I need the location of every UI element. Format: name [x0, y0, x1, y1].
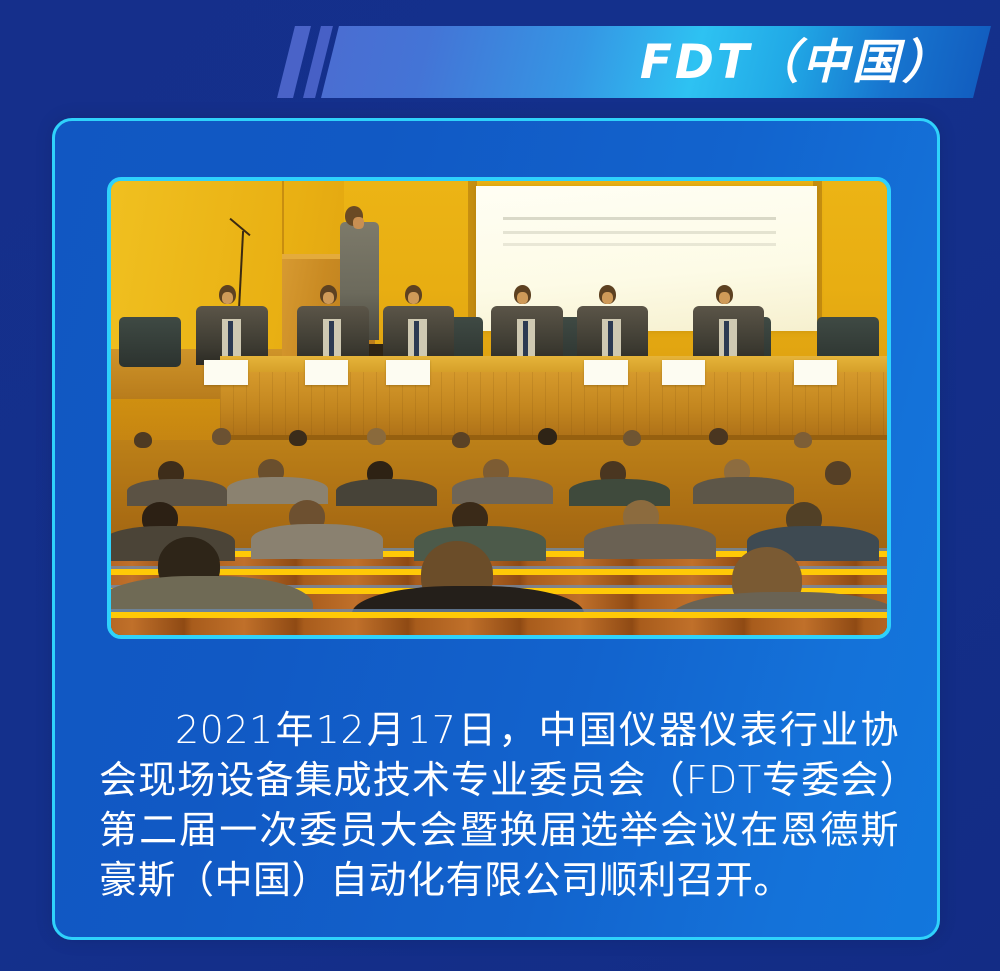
announcement-paragraph: 2021年12月17日，中国仪器仪表行业协会现场设备集成技术专业委员会（FDT专… [99, 705, 899, 905]
seat-row [111, 612, 887, 635]
panelist-tie [329, 321, 334, 358]
conference-photo [111, 181, 887, 635]
nameplate [305, 360, 348, 385]
nameplate [662, 360, 705, 385]
audience-shoulders [569, 479, 670, 506]
audience-shoulders [127, 479, 228, 506]
audience-area [111, 440, 887, 635]
standing-speaker-face [353, 217, 364, 229]
audience-head [289, 430, 307, 446]
audience-head [794, 432, 812, 448]
nameplate [386, 360, 429, 385]
nameplate [794, 360, 837, 385]
nameplate [584, 360, 627, 385]
panelist-face [323, 292, 334, 304]
panelist-tie [523, 321, 528, 358]
audience-head [134, 432, 152, 448]
panelist-face [517, 292, 528, 304]
panel-chair [119, 317, 181, 367]
panelist-face [602, 292, 613, 304]
audience-head [452, 432, 470, 448]
audience-head [538, 428, 557, 445]
panelist-tie [608, 321, 613, 358]
audience-shoulders [336, 479, 437, 506]
panelist-face [719, 292, 730, 304]
audience-shoulders [584, 524, 716, 559]
header-banner: FDT（中国） [0, 0, 1000, 118]
panelist-tie [414, 321, 419, 358]
poster-root: FDT（中国） [0, 0, 1000, 971]
conference-photo-frame [107, 177, 891, 639]
audience-head [367, 428, 386, 445]
audience-shoulders [693, 477, 794, 504]
panelist-tie [724, 321, 729, 358]
audience-shoulders [452, 477, 553, 504]
audience-head [709, 428, 728, 445]
content-card: 2021年12月17日，中国仪器仪表行业协会现场设备集成技术专业委员会（FDT专… [52, 118, 940, 940]
ribbon-title-wrap: FDT（中国） [330, 26, 982, 98]
panelist-face [408, 292, 419, 304]
panelist-face [222, 292, 233, 304]
audience-head [623, 430, 641, 446]
nameplate [204, 360, 247, 385]
audience-head [212, 428, 231, 445]
panelist-tie [228, 321, 233, 358]
audience-head [825, 461, 851, 485]
audience-shoulders [251, 524, 383, 559]
page-title: FDT（中国） [640, 39, 952, 86]
